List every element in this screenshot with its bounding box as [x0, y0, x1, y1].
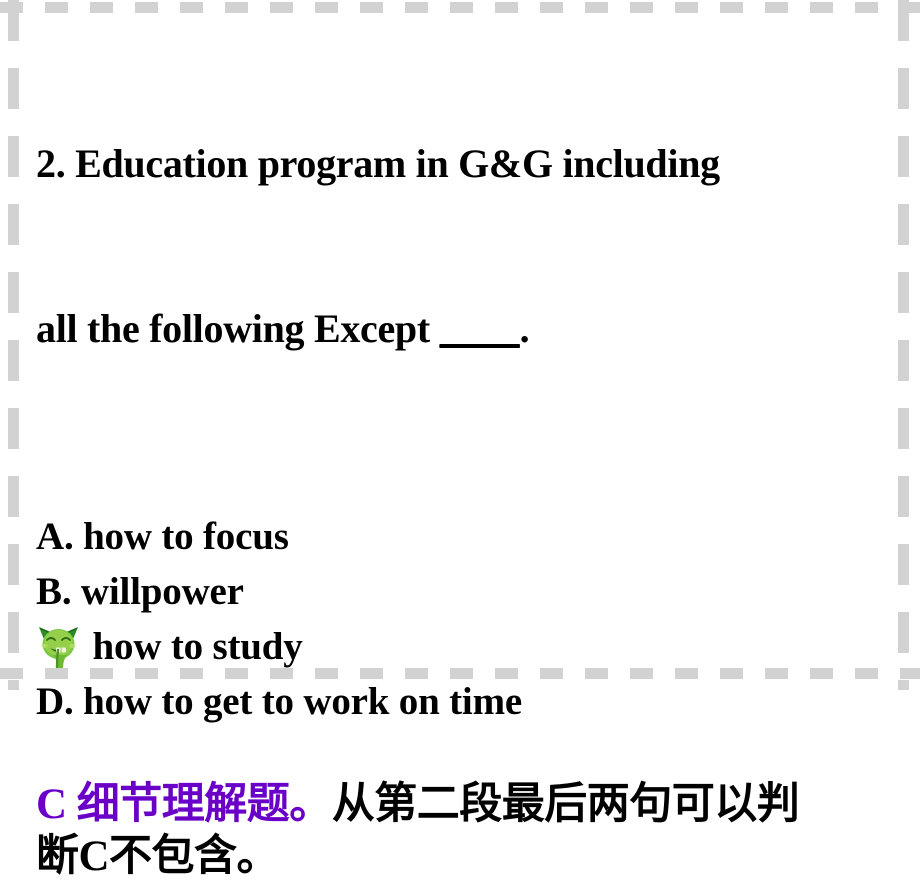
option-c-label: how to study	[83, 619, 303, 674]
green-frog-emoticon-icon	[36, 624, 81, 669]
explanation-accent-text: C 细节理解题。	[36, 781, 332, 828]
question-line-2-suffix: .	[520, 306, 530, 351]
answer-options-list: A. how to focus B. willpower	[36, 509, 898, 729]
explanation-line-2: 断C不包含。	[36, 831, 904, 883]
explanation-block: C 细节理解题。从第二段最后两句可以判 断C不包含。	[36, 779, 904, 883]
option-a[interactable]: A. how to focus	[36, 509, 898, 564]
option-d-label: how to get to work on time	[74, 674, 522, 729]
question-line-2-prefix: all the following Except	[36, 306, 440, 351]
option-c[interactable]: how to study	[36, 619, 898, 674]
option-a-marker: A.	[36, 509, 74, 564]
option-b[interactable]: B. willpower	[36, 564, 898, 619]
question-line-1: 2. Education program in G&G including	[36, 136, 898, 191]
slide-content: 2. Education program in G&G including al…	[36, 26, 898, 883]
explanation-line-1: C 细节理解题。从第二段最后两句可以判	[36, 779, 904, 831]
question-line-2: all the following Except ____.	[36, 301, 898, 356]
option-b-marker: B.	[36, 564, 71, 619]
dashed-border-top	[0, 2, 920, 13]
explanation-body-part-1: 从第二段最后两句可以判	[332, 781, 800, 828]
option-d[interactable]: D. how to get to work on time	[36, 674, 898, 729]
options-explanation-spacer	[36, 729, 898, 779]
option-d-marker: D.	[36, 674, 74, 729]
question-options-spacer	[36, 466, 898, 509]
dashed-border-right	[898, 0, 909, 690]
dashed-border-left	[8, 0, 19, 690]
option-a-label: how to focus	[74, 509, 289, 564]
question-text: 2. Education program in G&G including al…	[36, 26, 898, 466]
slide-canvas: 2. Education program in G&G including al…	[0, 0, 920, 690]
answer-blank: ____	[440, 306, 520, 351]
option-b-label: willpower	[71, 564, 243, 619]
